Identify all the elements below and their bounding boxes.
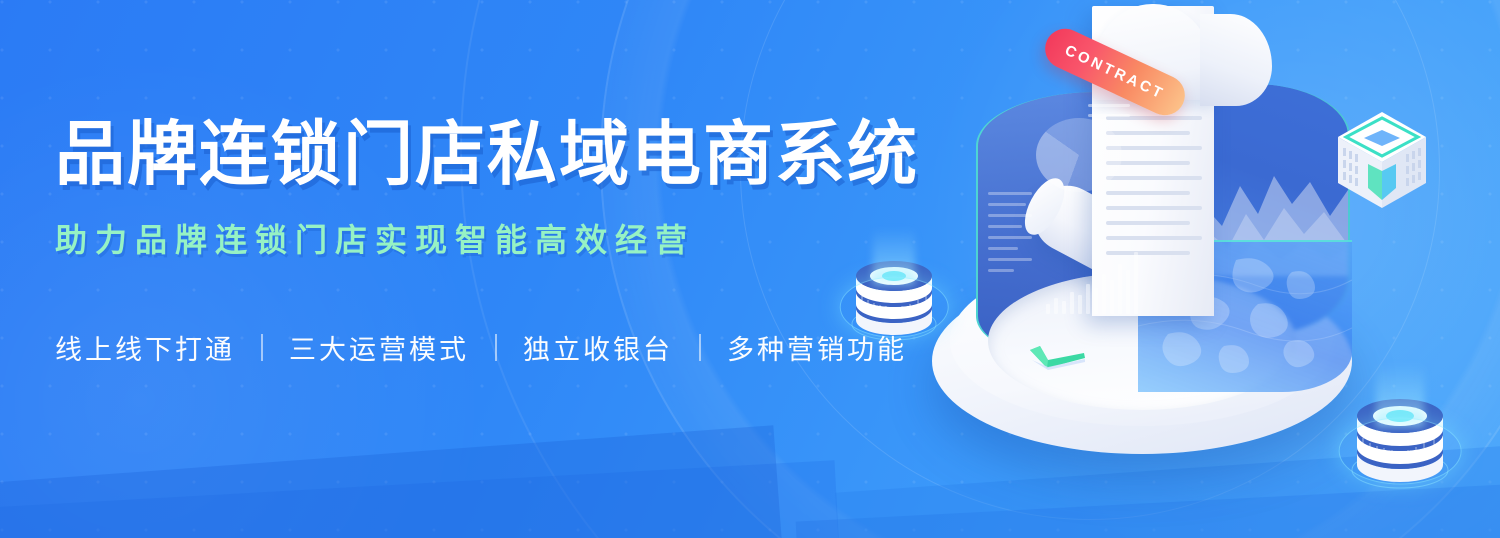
pie-chart	[1036, 118, 1122, 192]
bottom-left-band-front	[0, 425, 784, 538]
banner-copy: 品牌连锁门店私域电商系统 助力品牌连锁门店实现智能高效经营 线上线下打通 三大运…	[55, 112, 955, 367]
feature-separator-1	[261, 334, 263, 361]
panel-top-lines	[1088, 104, 1130, 124]
green-checkmark-icon	[1028, 340, 1088, 370]
database-stack-icon	[1348, 388, 1452, 496]
bar-chart	[1046, 252, 1138, 314]
document-text-lines	[1106, 116, 1202, 266]
banner-subtitle: 助力品牌连锁门店实现智能高效经营	[55, 218, 955, 262]
promo-banner: 品牌连锁门店私域电商系统 助力品牌连锁门店实现智能高效经营 线上线下打通 三大运…	[0, 0, 1500, 538]
feature-item-4: 多种营销功能	[727, 328, 907, 367]
feature-item-1: 线上线下打通	[55, 328, 235, 367]
feature-item-2: 三大运营模式	[289, 328, 469, 367]
feature-list: 线上线下打通 三大运营模式 独立收银台 多种营销功能	[55, 328, 955, 367]
banner-title: 品牌连锁门店私域电商系统	[55, 112, 955, 196]
feature-separator-3	[699, 334, 701, 361]
document-curl-right	[1200, 14, 1272, 106]
bottom-left-band-back	[0, 460, 844, 538]
panel-horizontal-lines	[988, 192, 1032, 280]
cube-icon	[1330, 108, 1434, 212]
feature-item-3: 独立收银台	[523, 328, 673, 367]
hero-illustration: CONTRACT	[880, 0, 1500, 538]
feature-separator-2	[495, 334, 497, 361]
